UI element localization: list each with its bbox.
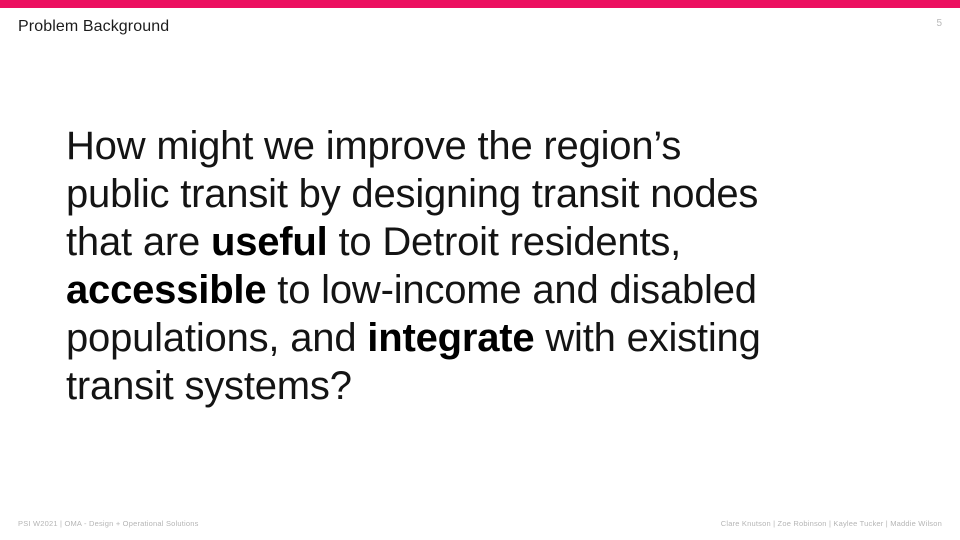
body-line: populations, and integrate with existing: [66, 314, 896, 362]
body-line: that are useful to Detroit residents,: [66, 218, 896, 266]
body-line: transit systems?: [66, 362, 896, 410]
body-text-segment: How might we improve the region’s: [66, 124, 681, 168]
body-line: How might we improve the region’s: [66, 122, 896, 170]
page-number: 5: [936, 18, 942, 30]
body-text-segment: that are: [66, 220, 211, 264]
body-text-segment: to Detroit residents,: [328, 220, 682, 264]
body-line: public transit by designing transit node…: [66, 170, 896, 218]
page-title: Problem Background: [18, 17, 169, 38]
body-text-block: How might we improve the region’spublic …: [66, 122, 896, 410]
emphasis-word: integrate: [367, 316, 534, 360]
slide: Problem Background 5 How might we improv…: [0, 0, 960, 540]
body-text-segment: with existing: [534, 316, 760, 360]
body-text-segment: to low-income and disabled: [266, 268, 756, 312]
footer-authors-label: Clare Knutson | Zoe Robinson | Kaylee Tu…: [721, 519, 942, 528]
footer-course-label: PSI W2021 | OMA - Design + Operational S…: [18, 519, 199, 528]
emphasis-word: useful: [211, 220, 328, 264]
body-line: accessible to low-income and disabled: [66, 266, 896, 314]
emphasis-word: accessible: [66, 268, 266, 312]
accent-bar-top: [0, 0, 960, 8]
body-text-segment: populations, and: [66, 316, 367, 360]
body-text-segment: transit systems?: [66, 364, 352, 408]
body-text-segment: public transit by designing transit node…: [66, 172, 758, 216]
